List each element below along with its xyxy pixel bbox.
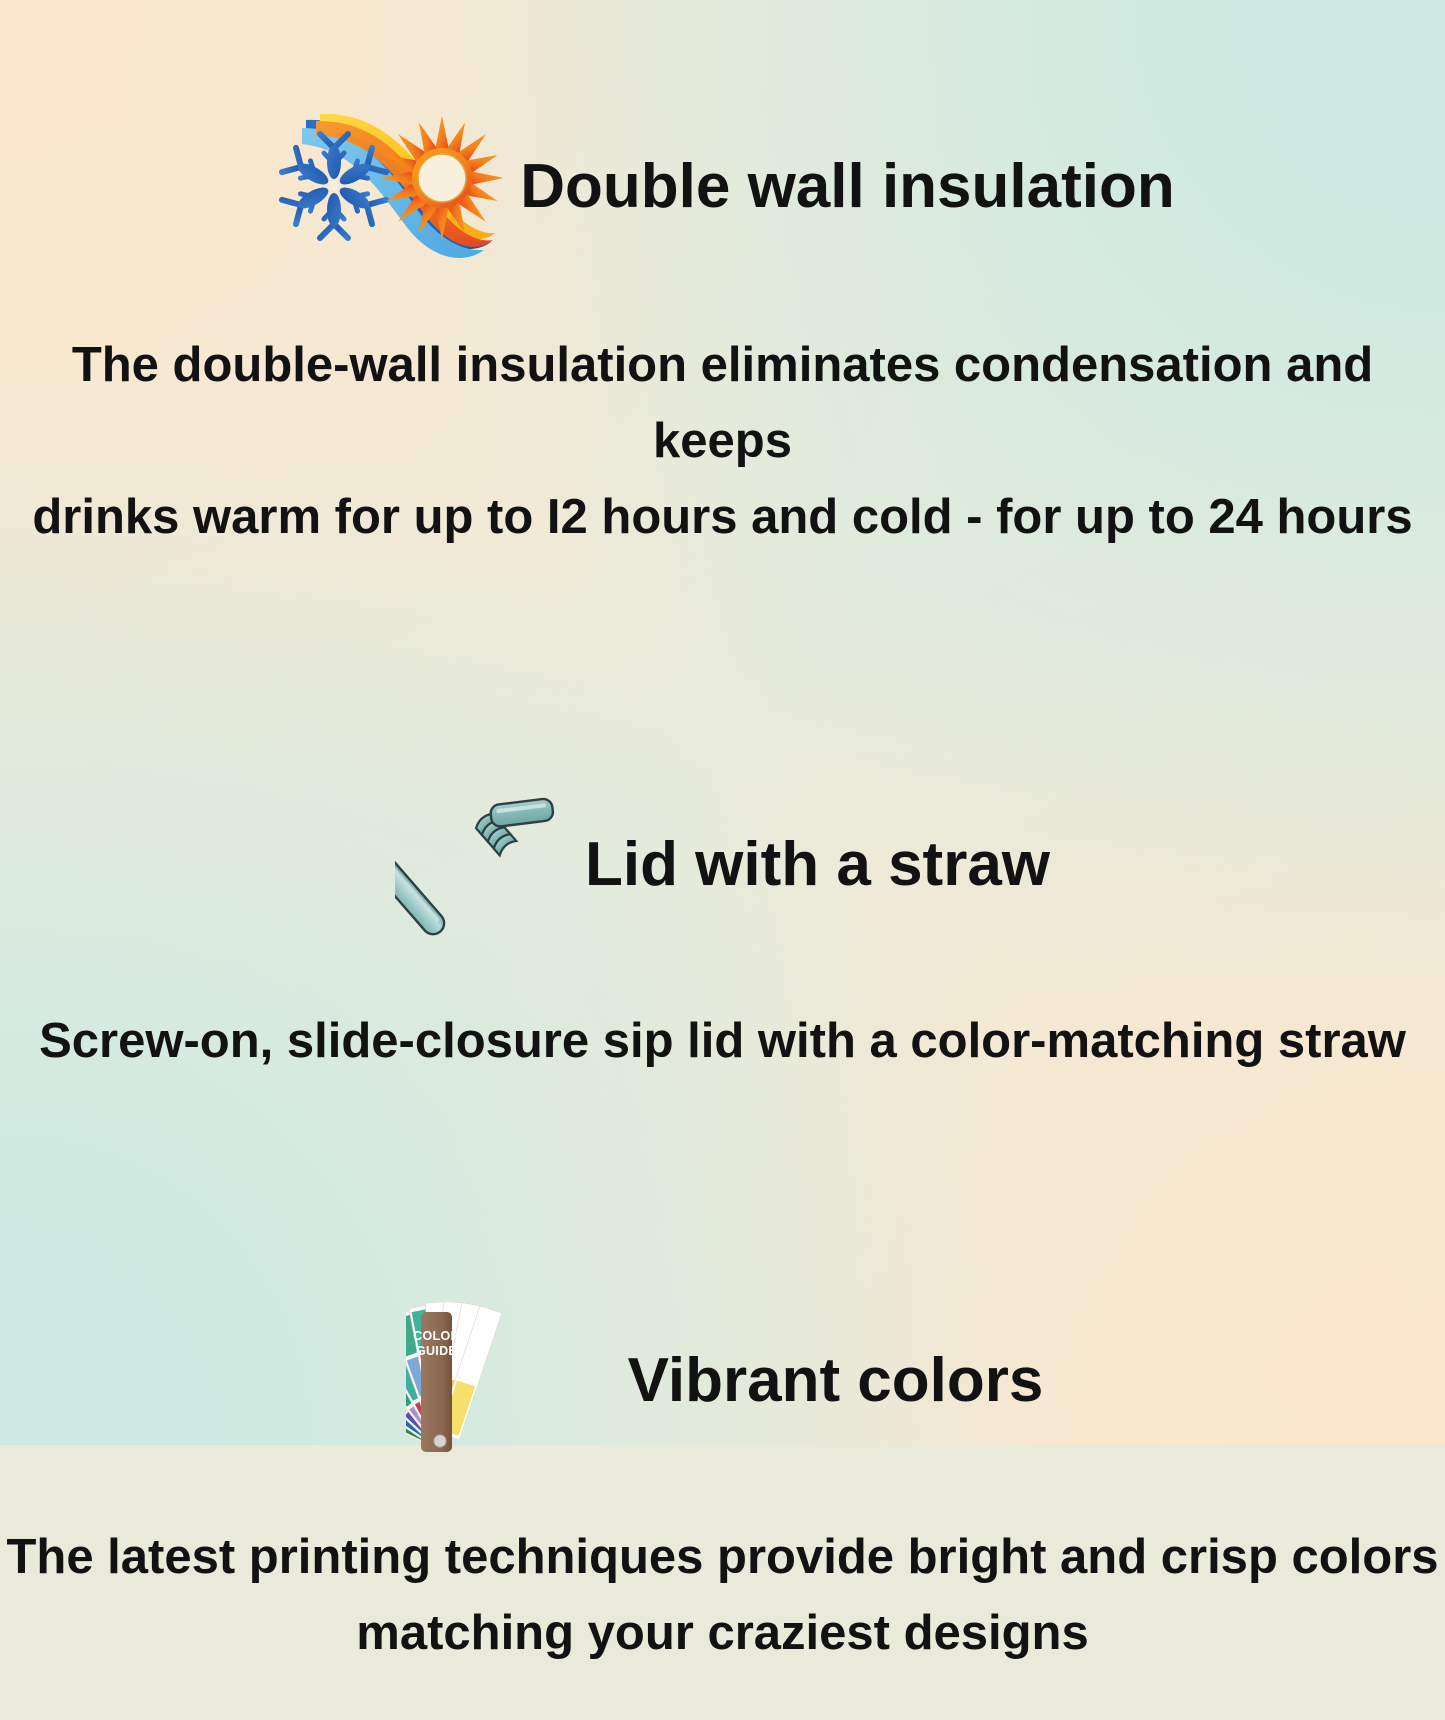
feature-title-lid-with-a-straw: Lid with a straw [585,834,1050,896]
feature-body-double-wall-insulation: The double-wall insulation eliminates co… [0,328,1445,556]
feature-block-vibrant-colors: COLOR GUIDE Vibrant colors The latest pr… [0,1129,1445,1720]
feature-heading-row: COLOR GUIDE Vibrant colors [0,1299,1445,1464]
color-guide-fan-deck-icon: COLOR GUIDE [406,1302,582,1460]
hot-cold-snowflake-sun-icon [276,104,502,270]
feature-heading-row: Lid with a straw [0,783,1445,948]
feature-block-lid-with-a-straw: Lid with a straw Screw-on, slide-closure… [0,605,1445,1129]
feature-body-lid-with-a-straw: Screw-on, slide-closure sip lid with a c… [0,1004,1445,1080]
feature-block-double-wall-insulation: Double wall insulation The double-wall i… [0,0,1445,605]
feature-body-vibrant-colors: The latest printing techniques provide b… [0,1520,1445,1672]
bendy-straw-icon [395,784,555,946]
feature-list: Double wall insulation The double-wall i… [0,0,1445,1445]
feature-title-vibrant-colors: Vibrant colors [628,1350,1044,1412]
feature-title-double-wall-insulation: Double wall insulation [520,156,1174,218]
svg-text:COLOR: COLOR [413,1329,460,1343]
svg-text:GUIDE: GUIDE [416,1344,457,1358]
feature-heading-row: Double wall insulation [0,104,1445,270]
